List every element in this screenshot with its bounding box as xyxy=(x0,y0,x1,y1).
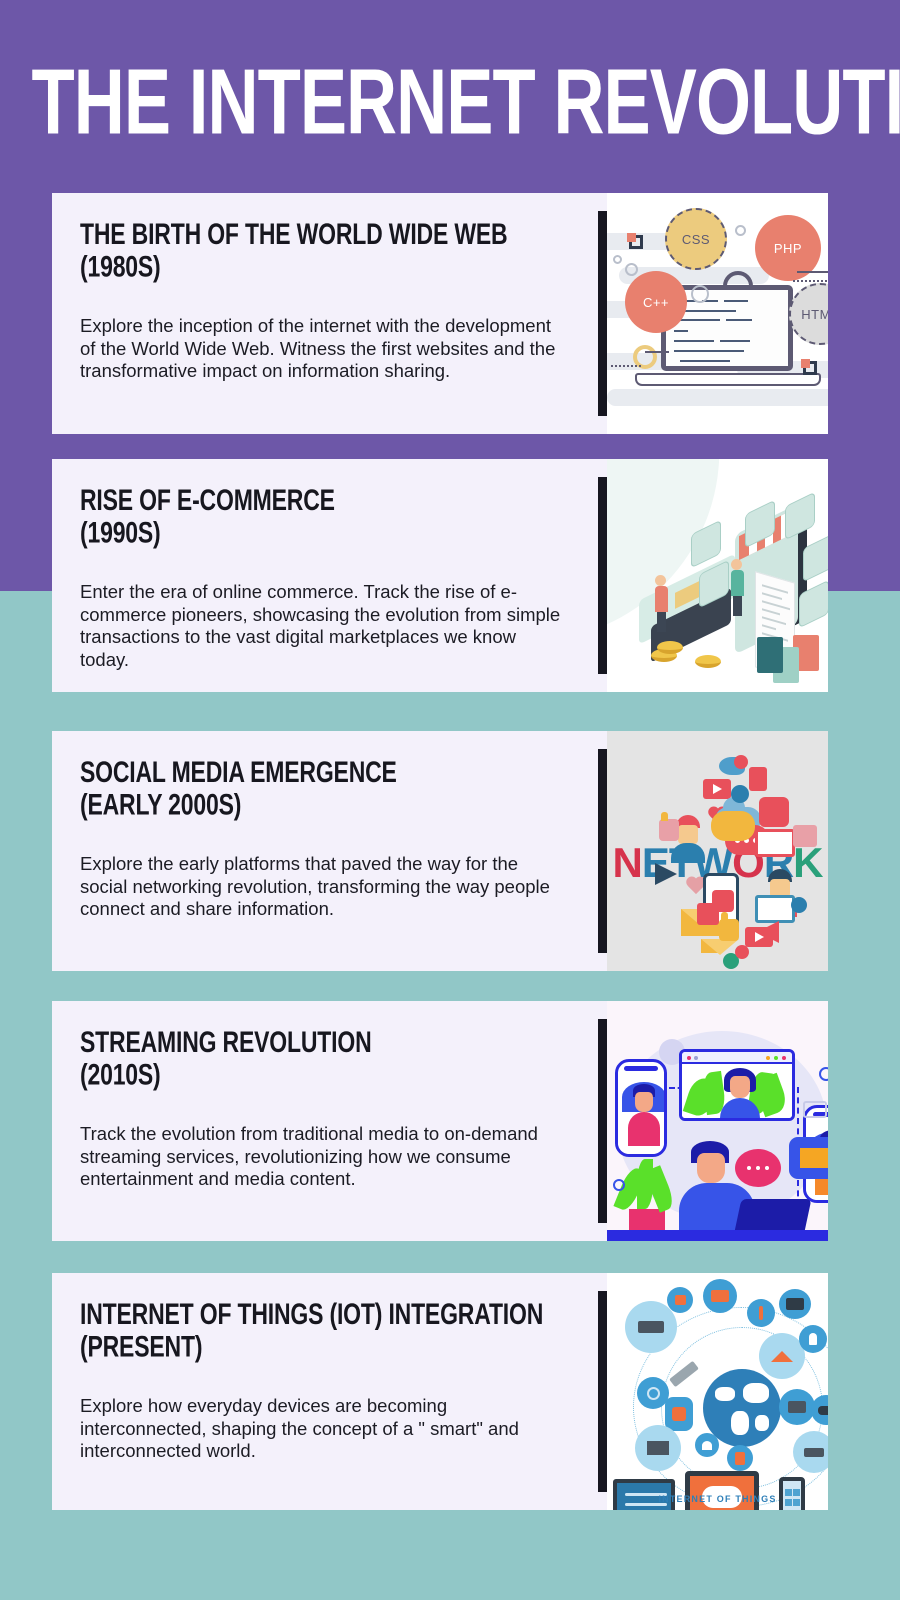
factory-icon xyxy=(635,1425,681,1471)
mail-icon xyxy=(789,1137,828,1179)
video-camera-icon xyxy=(803,1101,827,1118)
laptop-icon xyxy=(755,829,795,857)
video-icon xyxy=(703,779,731,799)
speech-bubble-html: HTML xyxy=(789,283,828,345)
square-icon xyxy=(629,235,643,249)
user-group-icon xyxy=(735,945,749,959)
calendar-icon xyxy=(793,825,817,847)
envelope-icon xyxy=(701,939,721,953)
chat-bubble-icon xyxy=(735,1149,781,1187)
speech-bubble-css: CSS xyxy=(665,208,727,270)
card-heading-line2: (1980S) xyxy=(80,251,531,283)
lock-icon xyxy=(667,1287,693,1313)
cloud-laptop-icon xyxy=(685,1471,759,1510)
card-text-block: THE BIRTH OF THE WORLD WIDE WEB (1980S) … xyxy=(52,193,598,434)
video-streaming-illustration xyxy=(607,1001,828,1241)
circle-icon xyxy=(613,255,622,264)
link-icon xyxy=(697,903,719,925)
card-heading: STREAMING REVOLUTION (2010S) xyxy=(80,1027,531,1092)
card-heading: RISE OF E-COMMERCE (1990S) xyxy=(80,485,531,550)
ecommerce-isometric-illustration xyxy=(607,459,828,692)
cctv-camera-icon xyxy=(625,1301,677,1353)
circle-icon xyxy=(625,263,638,276)
video-call-phone-left xyxy=(615,1059,667,1157)
router-icon xyxy=(793,1431,828,1473)
thumbs-up-icon xyxy=(719,919,739,941)
printer-icon xyxy=(779,1389,815,1425)
card-accent-bar xyxy=(598,477,607,674)
music-icon xyxy=(759,797,789,827)
page-title: THE INTERNET REVOLUTION xyxy=(32,52,869,154)
bird-icon xyxy=(719,757,745,775)
square-icon xyxy=(803,361,817,375)
card-heading-line1: RISE OF E-COMMERCE xyxy=(80,484,335,518)
person-icon xyxy=(731,559,743,616)
card-body-text: Explore the inception of the internet wi… xyxy=(80,315,570,383)
smartwatch-icon xyxy=(665,1397,693,1431)
card-accent-bar xyxy=(598,1019,607,1223)
thumbs-up-icon xyxy=(659,819,679,841)
document-icon xyxy=(749,767,767,791)
laptop-icon xyxy=(755,895,795,923)
megaphone-icon xyxy=(655,863,677,885)
circle-icon xyxy=(819,1067,828,1081)
card-heading-line1: INTERNET OF THINGS (IOT) INTEGRATION xyxy=(80,1298,543,1332)
video-call-window-center xyxy=(679,1049,795,1121)
card-text-block: SOCIAL MEDIA EMERGENCE (EARLY 2000S) Exp… xyxy=(52,731,598,971)
tablet-icon xyxy=(727,1445,753,1471)
person-icon xyxy=(655,575,667,632)
network-letter: N xyxy=(612,839,641,887)
web-development-illustration: CSS PHP C++ HTML xyxy=(607,193,828,434)
timeline-card-3[interactable]: SOCIAL MEDIA EMERGENCE (EARLY 2000S) Exp… xyxy=(52,731,828,971)
card-accent-bar xyxy=(598,749,607,953)
card-body-text: Explore the early platforms that paved t… xyxy=(80,853,570,921)
card-accent-bar xyxy=(598,1291,607,1492)
card-heading: SOCIAL MEDIA EMERGENCE (EARLY 2000S) xyxy=(80,757,531,822)
card-heading-line1: THE BIRTH OF THE WORLD WIDE WEB xyxy=(80,218,507,252)
camera-icon xyxy=(703,1279,737,1313)
chat-bubble-icon xyxy=(711,811,755,841)
social-network-illustration: NETWORK xyxy=(607,731,828,971)
card-accent-bar xyxy=(598,211,607,416)
card-heading: THE BIRTH OF THE WORLD WIDE WEB (1980S) xyxy=(80,219,531,284)
iot-network-illustration: INTERNET OF THINGS xyxy=(607,1273,828,1510)
card-body-text: Explore how everyday devices are becomin… xyxy=(80,1395,570,1463)
circle-icon xyxy=(735,225,746,236)
card-text-block: RISE OF E-COMMERCE (1990S) Enter the era… xyxy=(52,459,598,692)
card-heading-line2: (PRESENT) xyxy=(80,1331,531,1363)
card-text-block: INTERNET OF THINGS (IOT) INTEGRATION (PR… xyxy=(52,1273,598,1510)
share-icon xyxy=(791,897,807,913)
card-heading-line2: (2010S) xyxy=(80,1059,531,1091)
card-body-text: Track the evolution from traditional med… xyxy=(80,1123,570,1191)
coin-icon xyxy=(657,641,683,654)
thermometer-icon xyxy=(747,1299,775,1327)
timeline-card-5[interactable]: INTERNET OF THINGS (IOT) INTEGRATION (PR… xyxy=(52,1273,828,1510)
heart-icon xyxy=(695,1433,719,1457)
circle-icon xyxy=(613,1179,625,1191)
lightbulb-icon xyxy=(799,1325,827,1353)
card-heading-line2: (EARLY 2000S) xyxy=(80,789,531,821)
oven-icon xyxy=(779,1289,811,1319)
card-heading-line1: STREAMING REVOLUTION xyxy=(80,1026,371,1060)
circle-icon xyxy=(691,285,709,303)
speech-bubble-cpp: C++ xyxy=(625,271,687,333)
timeline-card-1[interactable]: THE BIRTH OF THE WORLD WIDE WEB (1980S) … xyxy=(52,193,828,434)
timeline-card-4[interactable]: STREAMING REVOLUTION (2010S) Track the e… xyxy=(52,1001,828,1241)
coin-icon xyxy=(695,655,721,668)
infographic-page: THE INTERNET REVOLUTION THE BIRTH OF THE… xyxy=(0,0,900,1600)
card-heading-line2: (1990S) xyxy=(80,517,531,549)
camera-icon xyxy=(731,785,749,803)
shopping-bag-icon xyxy=(757,637,783,673)
megaphone-icon xyxy=(757,921,779,943)
card-text-block: STREAMING REVOLUTION (2010S) Track the e… xyxy=(52,1001,598,1241)
iot-caption: INTERNET OF THINGS xyxy=(607,1494,828,1504)
timeline-card-2[interactable]: RISE OF E-COMMERCE (1990S) Enter the era… xyxy=(52,459,828,692)
settings-icon xyxy=(637,1377,669,1409)
card-body-text: Enter the era of online commerce. Track … xyxy=(80,581,570,671)
card-heading: INTERNET OF THINGS (IOT) INTEGRATION (PR… xyxy=(80,1299,531,1364)
card-heading-line1: SOCIAL MEDIA EMERGENCE xyxy=(80,756,397,790)
